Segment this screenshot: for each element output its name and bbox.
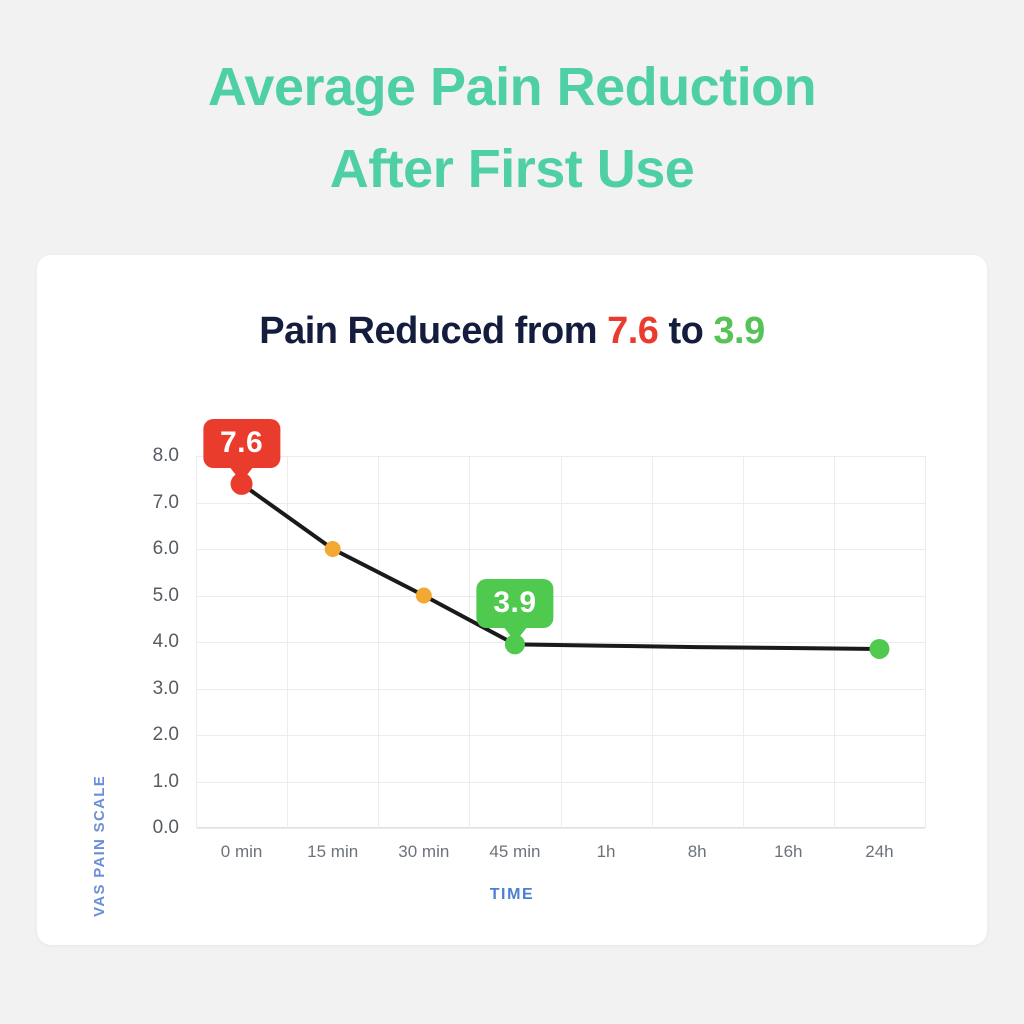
x-axis-title: TIME — [37, 886, 987, 904]
chart-subtitle-prefix: Pain Reduced from — [259, 310, 607, 352]
x-axis-tick-label: 24h — [865, 842, 893, 862]
chart-subtitle-middle: to — [658, 310, 713, 352]
data-point-marker — [416, 588, 432, 604]
callout-badge-start: 7.6 — [203, 419, 280, 468]
data-point-marker — [325, 541, 341, 557]
x-axis-tick-label: 8h — [688, 842, 707, 862]
y-axis-tick-label: 7.0 — [153, 492, 179, 514]
chart-subtitle-start-value: 7.6 — [607, 310, 658, 352]
callout-badge-end: 3.9 — [476, 579, 553, 628]
y-axis-tick-label: 0.0 — [153, 817, 179, 839]
chart-subtitle: Pain Reduced from 7.6 to 3.9 — [37, 310, 987, 353]
y-axis-tick-label: 4.0 — [153, 631, 179, 653]
callout-badge-end-label: 3.9 — [493, 586, 536, 619]
y-axis-tick-label: 2.0 — [153, 724, 179, 746]
series-line-chart — [196, 456, 925, 828]
x-axis-tick-label: 15 min — [307, 842, 358, 862]
x-axis-tick-label: 30 min — [398, 842, 449, 862]
chart-card: Pain Reduced from 7.6 to 3.9 VAS PAIN SC… — [37, 255, 987, 945]
y-axis-tick-label: 6.0 — [153, 538, 179, 560]
x-axis-tick-label: 45 min — [489, 842, 540, 862]
page-title: Average Pain Reduction After First Use — [0, 46, 1024, 210]
y-axis-tick-label: 1.0 — [153, 771, 179, 793]
plot-area: 0.01.02.03.04.05.06.07.08.0 0 min15 min3… — [196, 456, 925, 828]
x-axis-tick-label: 0 min — [221, 842, 263, 862]
y-axis-tick-label: 5.0 — [153, 585, 179, 607]
page-title-line-1: Average Pain Reduction — [0, 46, 1024, 128]
series-data-points — [231, 473, 890, 659]
series-line — [242, 484, 880, 649]
data-point-marker — [869, 639, 889, 659]
y-axis-tick-label: 3.0 — [153, 678, 179, 700]
gridline-vertical — [925, 456, 926, 828]
page-title-line-2: After First Use — [0, 128, 1024, 210]
x-axis-tick-label: 16h — [774, 842, 802, 862]
callout-badge-start-label: 7.6 — [220, 426, 263, 459]
gridline-horizontal — [196, 828, 925, 829]
chart-subtitle-end-value: 3.9 — [713, 310, 764, 352]
y-axis-tick-label: 8.0 — [153, 445, 179, 467]
x-axis-tick-label: 1h — [597, 842, 616, 862]
